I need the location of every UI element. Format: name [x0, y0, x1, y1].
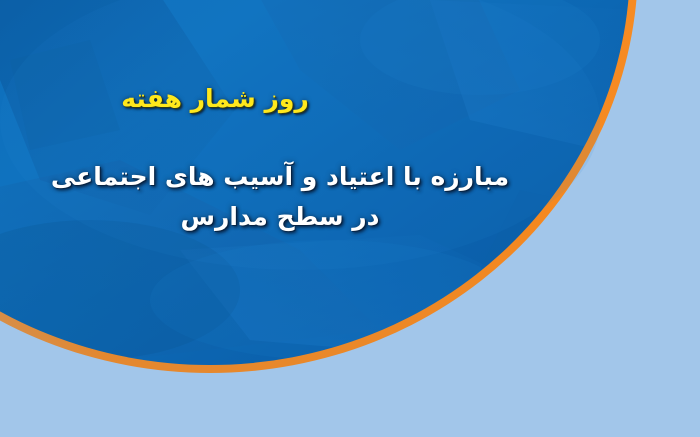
banner-canvas: روز شمار هفته مبارزه با اعتیاد و آسیب ها… — [0, 0, 700, 437]
decorative-artwork — [0, 0, 700, 437]
